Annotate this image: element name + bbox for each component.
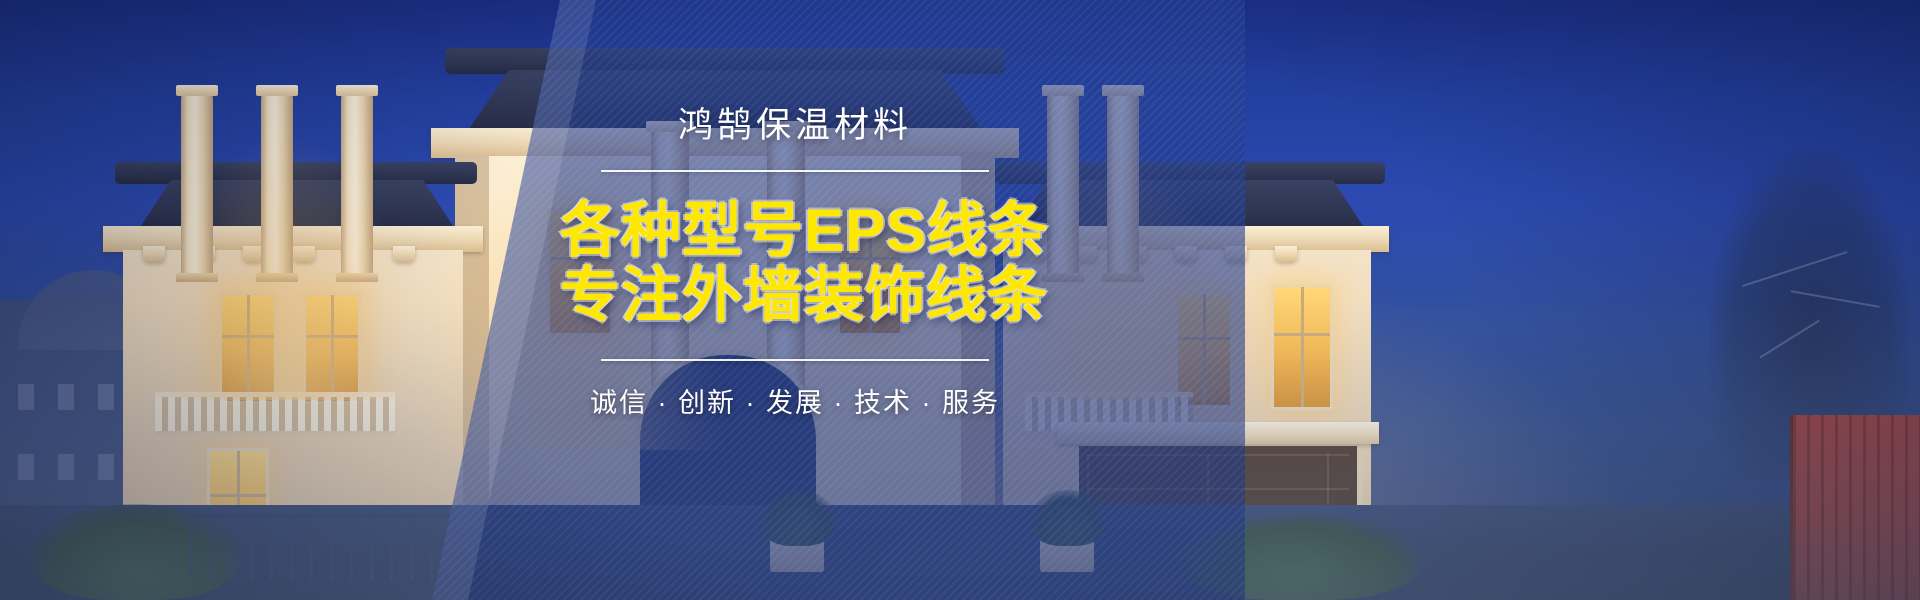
divider-top [601,170,989,172]
promotional-banner: 鸿鹄保温材料 各种型号EPS线条 专注外墙装饰线条 诚信 · 创新 · 发展 ·… [0,0,1920,600]
brand-name: 鸿鹄保温材料 [560,104,1030,148]
villa-column [181,94,213,282]
headline-group: 各种型号EPS线条 专注外墙装饰线条 [560,198,1030,329]
divider-bottom [601,359,989,361]
headline-line-1: 各种型号EPS线条 [560,198,1030,263]
villa-corbel [393,246,415,262]
tagline: 诚信 · 创新 · 发展 · 技术 · 服务 [560,381,1030,420]
villa-column [261,94,293,282]
villa-corbel [143,246,165,262]
headline-spacer [560,329,1030,359]
banner-text-block: 鸿鹄保温材料 各种型号EPS线条 专注外墙装饰线条 诚信 · 创新 · 发展 ·… [560,104,1030,420]
villa-corbel [1275,246,1297,262]
headline-line-2: 专注外墙装饰线条 [560,263,1030,328]
villa-column [341,94,373,282]
villa-corbel [293,246,315,262]
